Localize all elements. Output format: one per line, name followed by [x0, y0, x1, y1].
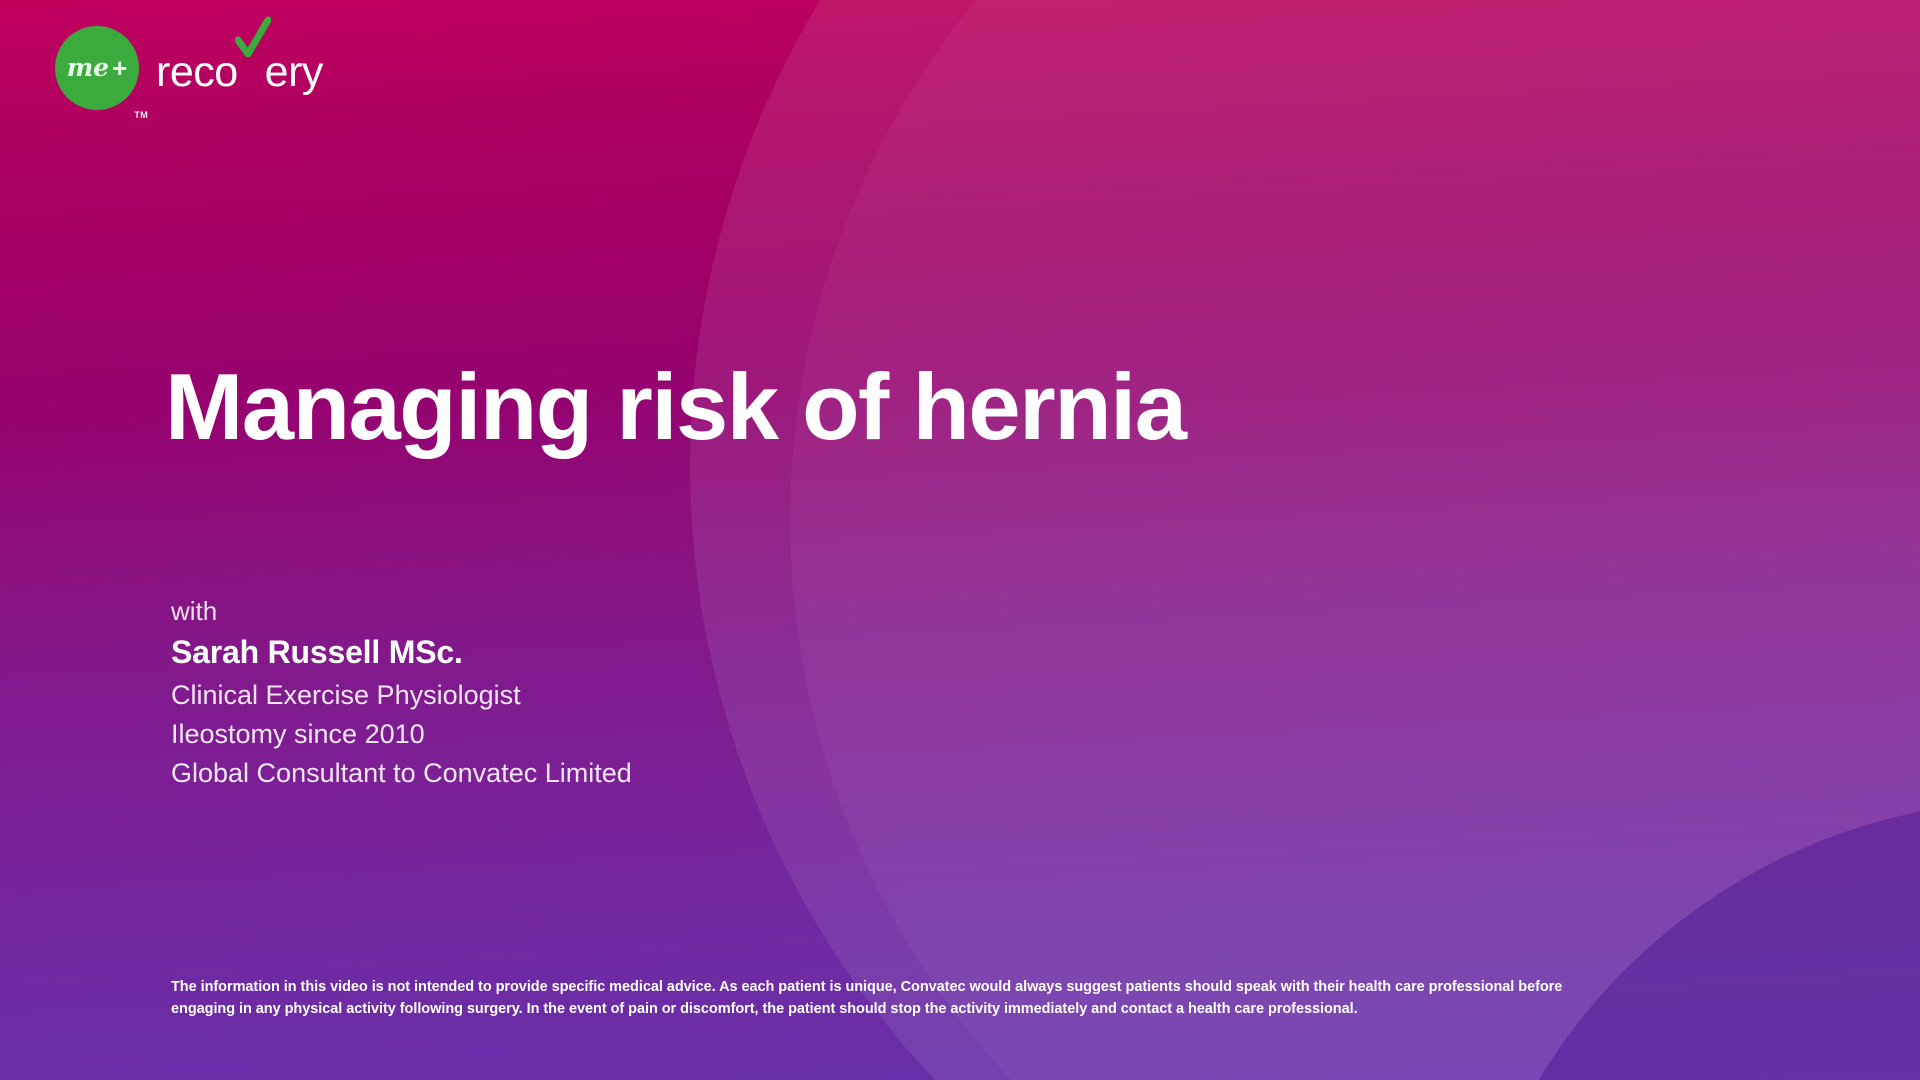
presentation-slide: me+ TM reco ery Managing risk of hernia …	[0, 0, 1920, 1080]
page-title: Managing risk of hernia	[165, 358, 1186, 457]
brand-logo: me+ TM reco ery	[55, 26, 323, 110]
plus-icon: +	[112, 53, 127, 83]
presenter-with-label: with	[171, 594, 632, 628]
green-check-icon	[238, 43, 265, 86]
logo-me-text: me+	[55, 55, 139, 81]
background-decoration	[0, 0, 1920, 1080]
logo-me-word: me	[67, 53, 109, 82]
wordmark-prefix: reco	[156, 51, 238, 94]
presenter-role-line-3: Global Consultant to Convatec Limited	[171, 754, 632, 793]
brand-wordmark: reco ery	[156, 43, 323, 94]
presenter-role-line-1: Clinical Exercise Physiologist	[171, 676, 632, 715]
wordmark-suffix: ery	[265, 51, 323, 94]
presenter-block: with Sarah Russell MSc. Clinical Exercis…	[171, 594, 632, 792]
trademark-symbol: TM	[134, 110, 148, 120]
presenter-role-line-2: Ileostomy since 2010	[171, 715, 632, 754]
medical-disclaimer: The information in this video is not int…	[171, 976, 1591, 1020]
background-circle-dark	[1455, 800, 1920, 1080]
background-circle-light	[690, 0, 1920, 1080]
presenter-name: Sarah Russell MSc.	[171, 628, 632, 676]
background-circle-light-inner	[790, 0, 1920, 1080]
me-plus-logo-icon: me+ TM	[55, 26, 139, 110]
